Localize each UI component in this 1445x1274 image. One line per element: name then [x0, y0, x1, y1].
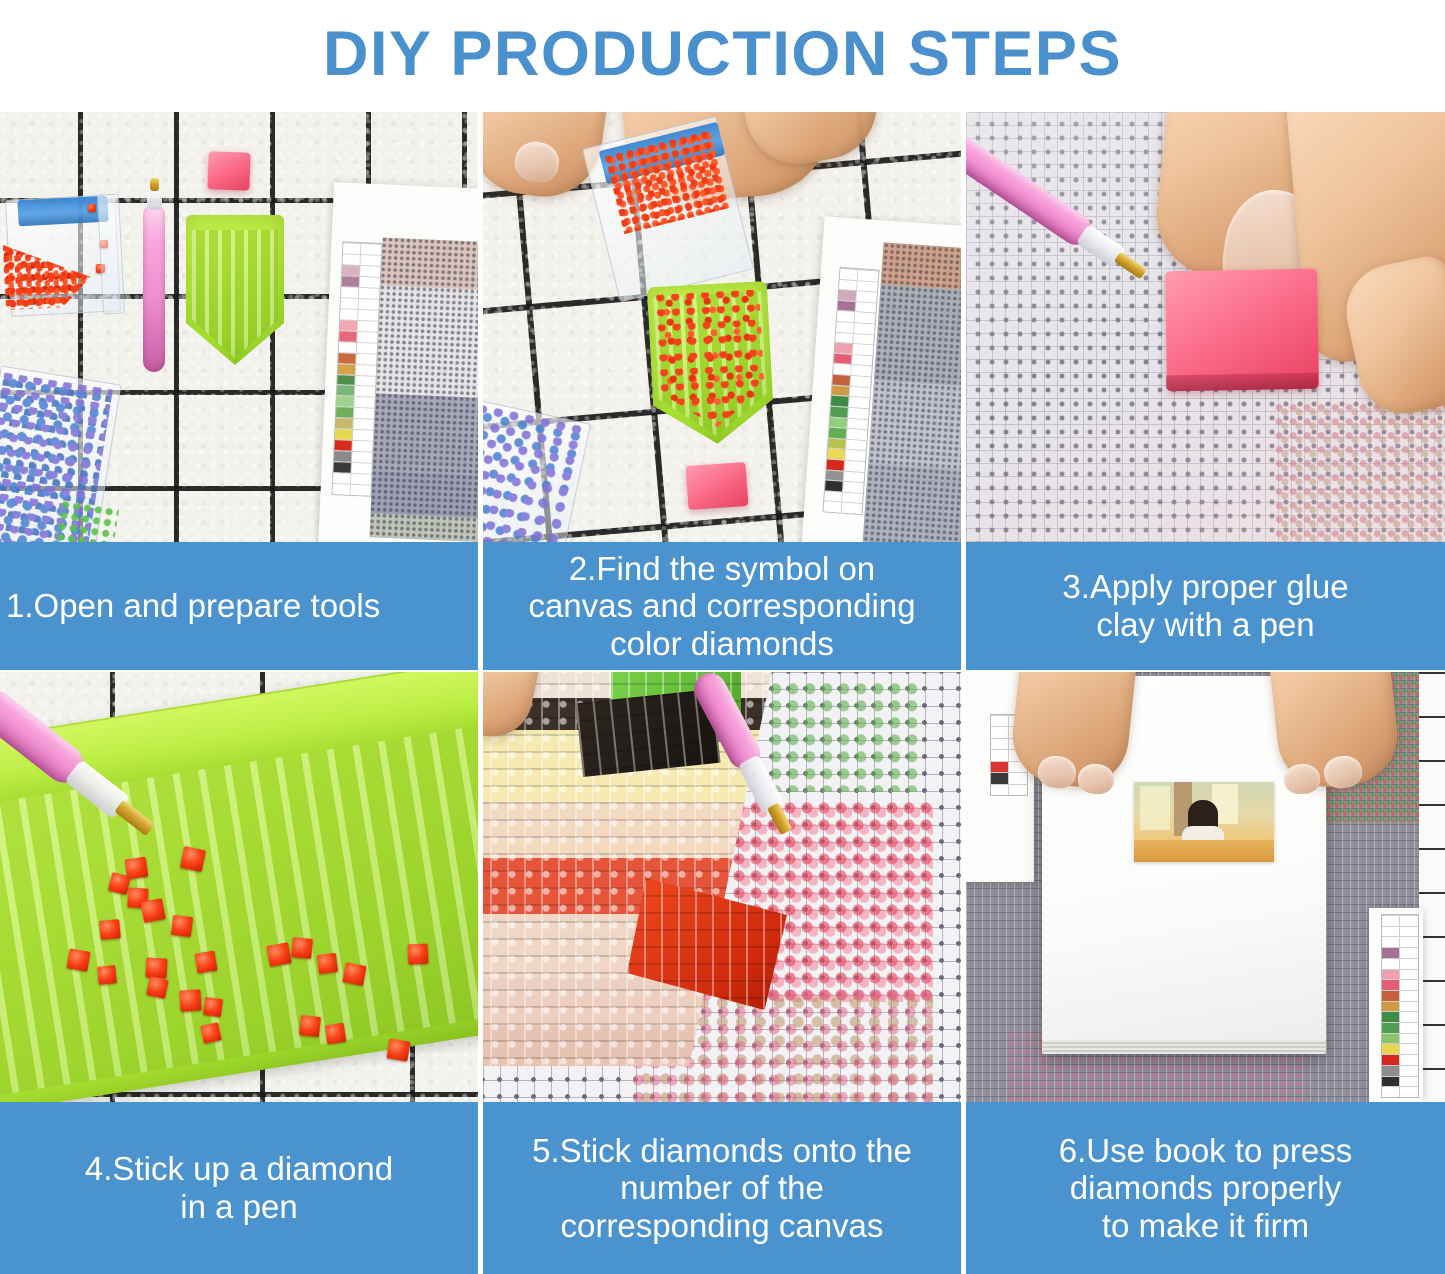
legend-row: [991, 784, 1027, 795]
legend-row: [1382, 969, 1418, 980]
tray-drill: [97, 965, 117, 985]
legend-row: [1382, 1033, 1418, 1044]
tray-drill: [387, 1038, 411, 1061]
caption-line: 6.Use book to press: [1059, 1132, 1353, 1170]
caption-line: 5.Stick diamonds onto the: [532, 1132, 912, 1170]
step-caption-1: 1.Open and prepare tools: [0, 542, 478, 670]
legend-row: [824, 501, 863, 514]
legend-row: [1382, 1065, 1418, 1076]
step-photo-4: [0, 672, 478, 1102]
tray-drill: [325, 1023, 346, 1044]
legend-row: [1382, 1043, 1418, 1054]
step-photo-6: [966, 672, 1445, 1102]
step-caption-5: 5.Stick diamonds onto the number of the …: [483, 1102, 961, 1274]
caption-line: corresponding canvas: [532, 1207, 912, 1245]
pen-tip: [767, 802, 793, 835]
tray-drill: [291, 937, 313, 959]
tray-drill: [299, 1015, 321, 1037]
page-title: DIY PRODUCTION STEPS: [0, 0, 1445, 108]
legend-row: [1382, 1076, 1418, 1087]
legend-row: [1382, 1086, 1418, 1097]
glue-clay-shadow-edge: [1166, 373, 1318, 392]
step-photo-3: [966, 112, 1445, 542]
legend-row: [1382, 1022, 1418, 1033]
glue-clay: [207, 151, 250, 190]
legend-row: [1382, 958, 1418, 969]
symbol-grid-colour-green: [769, 682, 919, 792]
pen-barrel: [143, 204, 165, 372]
legend-row: [1382, 1054, 1418, 1065]
tray-drill: [407, 943, 428, 964]
legend-row: [991, 772, 1027, 783]
caption-line: number of the: [532, 1169, 912, 1207]
tray-drill: [317, 953, 338, 974]
loose-drill: [88, 204, 96, 212]
legend-row: [1382, 947, 1418, 958]
legend-row: [1382, 990, 1418, 1001]
tray-drill: [140, 898, 166, 923]
tray-drill: [342, 962, 366, 986]
step-caption-4: 4.Stick up a diamond in a pen: [0, 1102, 478, 1274]
chart-preview-dots: [370, 237, 478, 542]
pen-collar: [147, 188, 162, 210]
caption-line: clay with a pen: [1062, 606, 1348, 644]
book-page-edge: [1042, 1040, 1326, 1054]
step-caption-6: 6.Use book to press diamonds properly to…: [966, 1102, 1445, 1274]
step-photo-2: [483, 112, 961, 542]
symbol-canvas-colour-patch: [1275, 402, 1445, 542]
tray-drill: [200, 1022, 221, 1043]
tray-drill: [66, 948, 90, 971]
tray-drill: [146, 976, 169, 999]
caption-line: 1.Open and prepare tools: [6, 587, 380, 625]
book-cover-image: [1134, 782, 1274, 862]
glue-clay: [686, 462, 749, 510]
legend-row: [1382, 915, 1418, 926]
tray-drill: [195, 951, 218, 974]
picked-drill: [180, 846, 206, 872]
step-caption-2: 2.Find the symbol on canvas and correspo…: [483, 542, 961, 670]
caption-line: 2.Find the symbol on: [528, 550, 915, 588]
tray-drill: [145, 957, 167, 978]
drill-pen: [143, 204, 169, 384]
book-cover-window-light: [1140, 786, 1170, 830]
pen-tip: [114, 800, 155, 836]
tray-drill: [171, 915, 193, 937]
tray-drill: [266, 942, 291, 967]
caption-line: to make it firm: [1059, 1207, 1353, 1245]
caption-line: canvas and corresponding: [528, 587, 915, 625]
legend-row: [1382, 979, 1418, 990]
symbol-legend-right: [1381, 914, 1419, 1098]
steps-grid: 1.Open and prepare tools 2.Find the symb…: [0, 112, 1445, 1274]
book-cover-table: [1134, 840, 1274, 862]
caption-line: diamonds properly: [1059, 1169, 1353, 1207]
step-photo-1: [0, 112, 478, 542]
caption-line: color diamonds: [528, 625, 915, 663]
legend-row: [1382, 936, 1418, 947]
pen-tip: [150, 178, 159, 191]
legend-row: [333, 483, 371, 496]
legend-row: [1382, 1011, 1418, 1022]
caption-line: 3.Apply proper glue: [1062, 568, 1348, 606]
caption-line: in a pen: [85, 1188, 393, 1226]
pen-tip: [1114, 251, 1147, 279]
tray-drill: [99, 919, 121, 940]
tray-drill: [179, 989, 201, 1011]
legend-row: [1382, 926, 1418, 937]
step-photo-5: [483, 672, 961, 1102]
tray-drill: [203, 997, 223, 1017]
step-caption-3: 3.Apply proper glue clay with a pen: [966, 542, 1445, 670]
legend-row: [1382, 1001, 1418, 1012]
caption-line: 4.Stick up a diamond: [85, 1150, 393, 1188]
